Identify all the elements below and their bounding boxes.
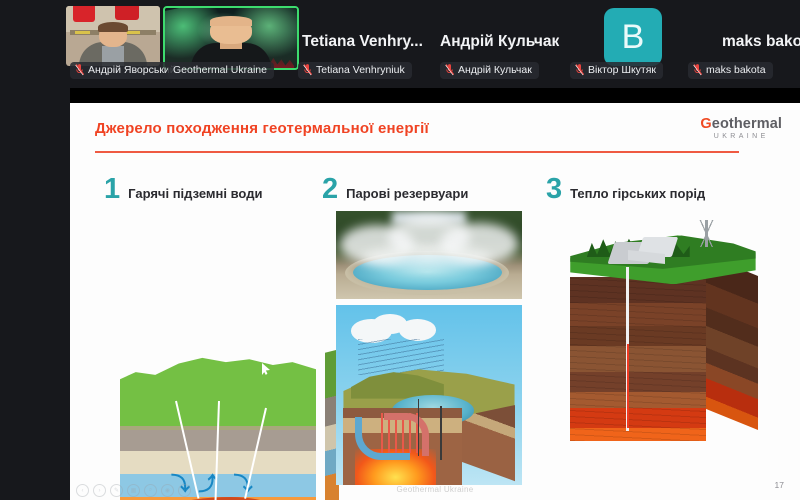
next-icon[interactable]: › (93, 484, 106, 497)
mic-muted-icon (75, 64, 84, 76)
logo-subtitle: UKRAINE (700, 133, 782, 140)
figure-hot-spring-photo (336, 211, 522, 299)
participant-name: maks bakota (706, 64, 766, 76)
video-conference-filmstrip: Андрій Яворський Geothermal Ukraine Teti… (0, 0, 800, 88)
column-heading-row: 1 Гарячі підземні води (104, 175, 316, 209)
page-title: Джерело походження геотермальної енергії (95, 120, 429, 137)
participant-tile-active-speaker[interactable] (163, 6, 299, 70)
borehole-left (418, 399, 419, 457)
rock-strata-texture (570, 277, 706, 441)
participant-headline-maks: maks bakota (722, 33, 800, 51)
logo-word: eothermal (712, 116, 782, 132)
column-heading-row: 3 Тепло гірських порід (546, 175, 778, 209)
participant-name: Tetiana Venhryniuk (316, 64, 405, 76)
participant-label: maks bakota (688, 62, 773, 79)
column-number: 2 (322, 175, 338, 204)
column-number: 3 (546, 175, 562, 204)
geology-block: ⤵ ⤴ ⤵ (120, 355, 316, 500)
pen-icon[interactable]: ✎ (110, 484, 123, 497)
power-pylon-icon (690, 220, 723, 247)
participant-label: Андрій Яворський (70, 62, 183, 79)
mic-muted-icon (693, 64, 702, 76)
screen-share-stage: Джерело походження геотермальної енергії… (70, 88, 800, 500)
column-heading-row: 2 Парові резервуари (322, 175, 534, 209)
figure-aquifer-cross-section: ⤵ ⤴ ⤵ (112, 345, 327, 500)
figure-steam-reservoir-diagram (336, 305, 522, 485)
slide-footer-note: Geothermal Ukraine (397, 485, 474, 494)
participant-label: Віктор Шкутяк (570, 62, 663, 79)
prev-icon[interactable]: ‹ (76, 484, 89, 497)
mic-muted-icon (303, 64, 312, 76)
title-underline (95, 151, 739, 153)
presentation-controls[interactable]: ‹ › ✎ ▦ ⌕ ◉ ⋯ (76, 484, 191, 497)
column-steam-reservoirs: 2 Парові резервуари (322, 175, 534, 209)
camera-icon[interactable]: ◉ (161, 484, 174, 497)
participant-tile-avatar[interactable]: В (604, 8, 662, 66)
avatar-initial: В (604, 8, 662, 66)
column-heading: Тепло гірських порід (570, 187, 705, 201)
participant-name: Андрій Яворський (88, 64, 176, 76)
borehole-right (440, 406, 441, 460)
flame-icon: G (700, 116, 711, 132)
upflow-arrow (384, 413, 428, 456)
column-heading: Гарячі підземні води (128, 187, 262, 201)
rainfall (358, 339, 444, 375)
wall-banner-right (115, 6, 139, 20)
steam-haze (362, 246, 492, 269)
presentation-slide[interactable]: Джерело походження геотермальної енергії… (70, 103, 800, 500)
zoom-icon[interactable]: ⌕ (144, 484, 157, 497)
participant-headline-tetiana: Tetiana Venhry... (302, 33, 423, 51)
slide-number: 17 (775, 480, 784, 490)
mic-muted-icon (575, 64, 584, 76)
logo-wordmark: Geothermal (700, 116, 782, 132)
column-hot-rock-heat: 3 Тепло гірських порід (546, 175, 778, 209)
participant-name: Geothermal Ukraine (173, 64, 267, 76)
wall-banner-left (73, 6, 96, 22)
column-number: 1 (104, 175, 120, 204)
column-heading: Парові резервуари (346, 187, 468, 201)
person-scalp (210, 16, 252, 26)
grid-icon[interactable]: ▦ (127, 484, 140, 497)
mic-muted-icon (445, 64, 454, 76)
participant-label: Андрій Кульчак (440, 62, 539, 79)
hot-fluid-column (627, 344, 629, 428)
participant-name: Андрій Кульчак (458, 64, 532, 76)
participant-label-active: Geothermal Ukraine (168, 62, 274, 79)
wall-plaque-left (75, 31, 90, 35)
more-icon[interactable]: ⋯ (178, 484, 191, 497)
figure-hot-dry-rock-borehole (562, 215, 768, 463)
participant-headline-andrii: Андрій Кульчак (440, 33, 559, 51)
block-side-face (704, 254, 758, 429)
participant-name: Віктор Шкутяк (588, 64, 656, 76)
geothermal-ukraine-logo: Geothermal UKRAINE (700, 116, 782, 140)
participant-tile-video[interactable] (66, 6, 160, 66)
column-hot-groundwater: 1 Гарячі підземні води ⤵ ⤴ ⤵ (104, 175, 316, 209)
person-hair (98, 22, 128, 32)
participant-label: Tetiana Venhryniuk (298, 62, 412, 79)
